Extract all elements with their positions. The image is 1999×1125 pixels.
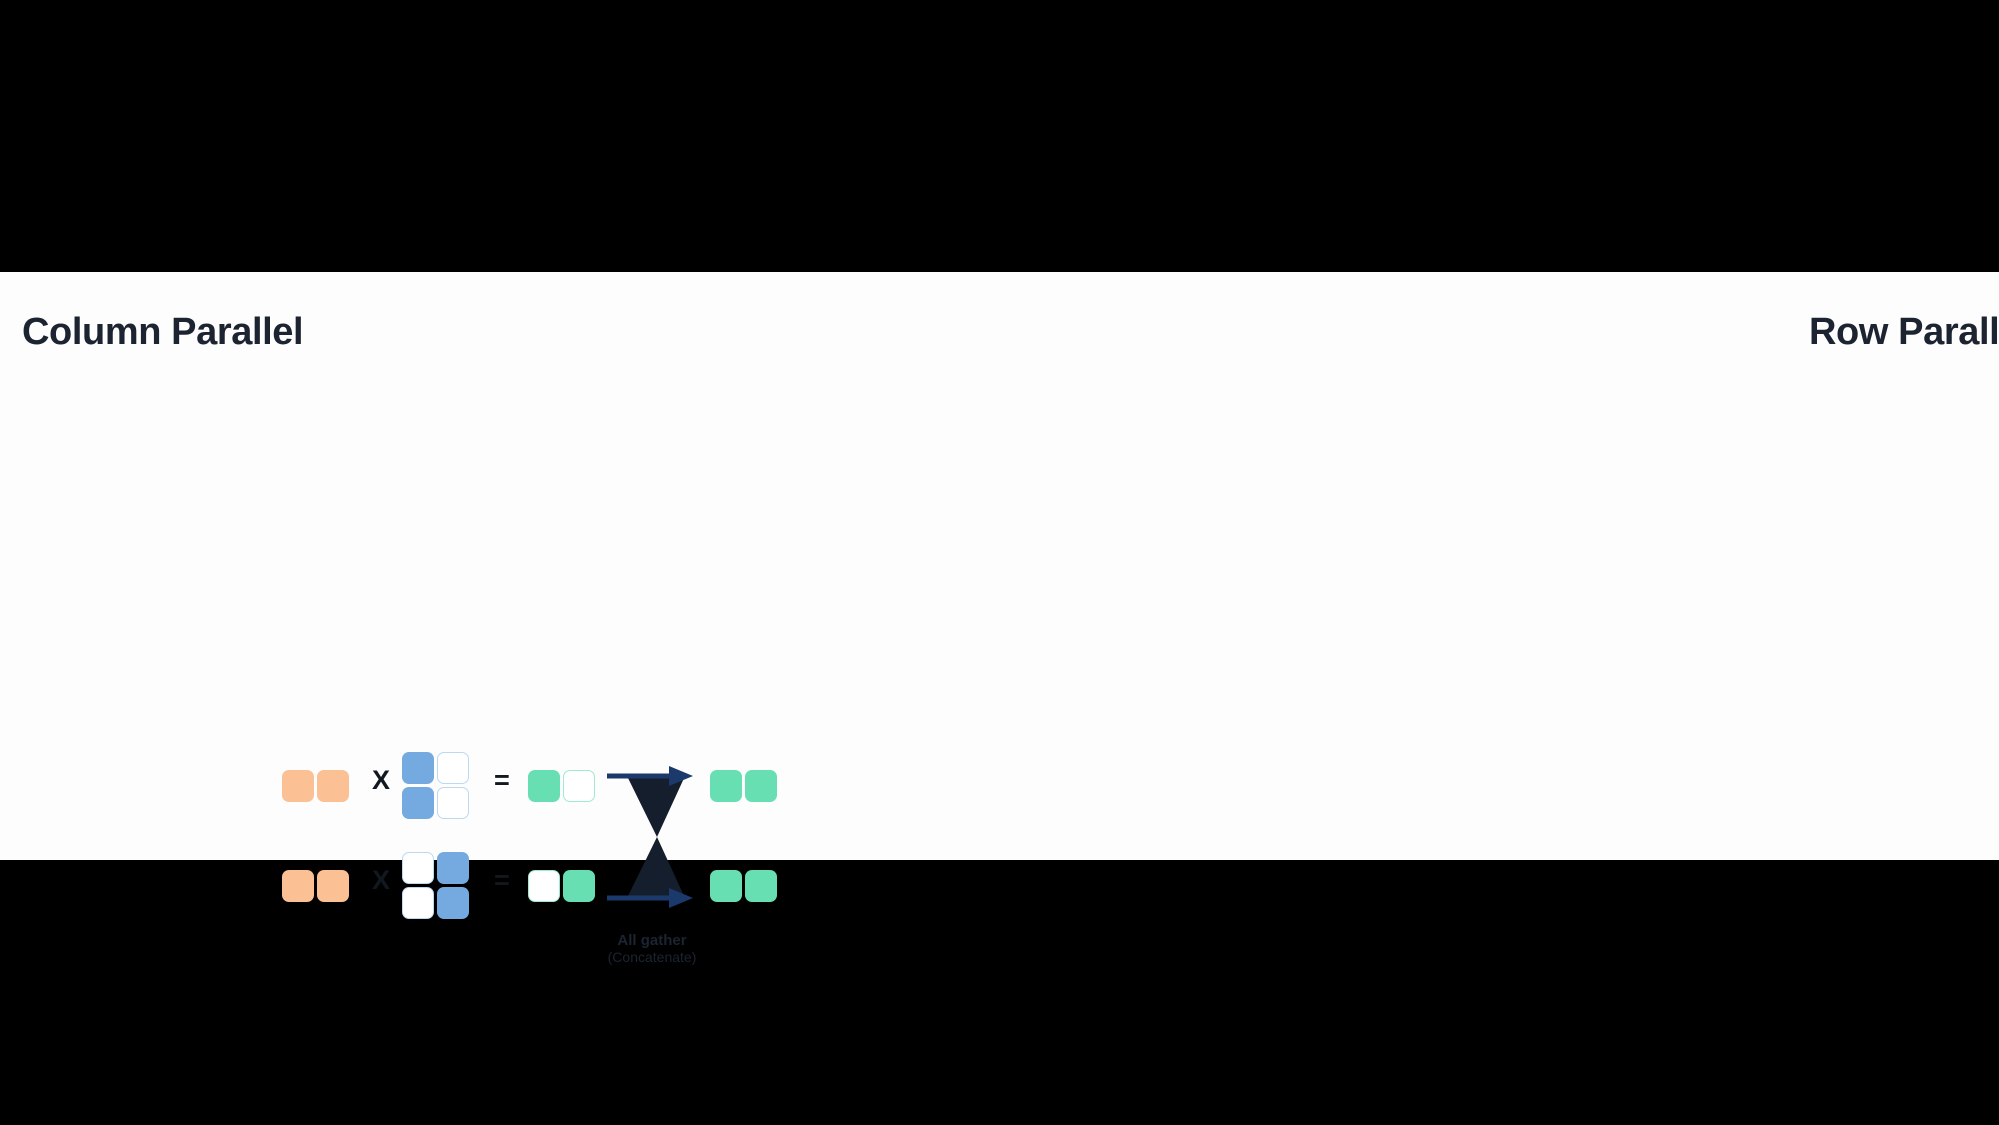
matrix-cell xyxy=(710,770,742,802)
matrix-cell xyxy=(528,870,560,902)
figure-stage: Column Parallel X = xyxy=(0,0,1999,1125)
matrix-cell xyxy=(563,770,595,802)
matrix-cell xyxy=(437,887,469,919)
letterbox-top xyxy=(0,0,1999,272)
matrix-cell xyxy=(745,770,777,802)
page-title-column-parallel: Column Parallel xyxy=(22,311,303,354)
equals-operator: = xyxy=(494,865,510,896)
matrix-cell xyxy=(437,752,469,784)
all-gather-label-main: All gather xyxy=(592,932,712,949)
all-gather-collective-icon xyxy=(607,762,697,912)
panel-column-parallel: Column Parallel X = xyxy=(0,272,1000,860)
matrix-cell xyxy=(402,852,434,884)
page-title-row-parallel: Row Parallel xyxy=(1809,311,1999,354)
diagram-canvas: Column Parallel X = xyxy=(0,272,1999,860)
matrix-cell xyxy=(282,770,314,802)
matrix-cell xyxy=(437,787,469,819)
panel-row-parallel: Row Parallel X = xyxy=(895,272,1895,860)
matrix-cell xyxy=(528,770,560,802)
equals-operator: = xyxy=(494,765,510,796)
matrix-cell xyxy=(402,752,434,784)
multiply-operator: X xyxy=(372,765,390,796)
matrix-cell xyxy=(745,870,777,902)
matrix-cell xyxy=(402,887,434,919)
matrix-cell xyxy=(402,787,434,819)
matrix-cell xyxy=(563,870,595,902)
all-gather-label: All gather (Concatenate) xyxy=(592,932,712,966)
matrix-cell xyxy=(317,770,349,802)
multiply-operator: X xyxy=(372,865,390,896)
matrix-cell xyxy=(282,870,314,902)
all-gather-label-sub: (Concatenate) xyxy=(592,949,712,966)
matrix-cell xyxy=(710,870,742,902)
matrix-cell xyxy=(437,852,469,884)
matrix-cell xyxy=(317,870,349,902)
